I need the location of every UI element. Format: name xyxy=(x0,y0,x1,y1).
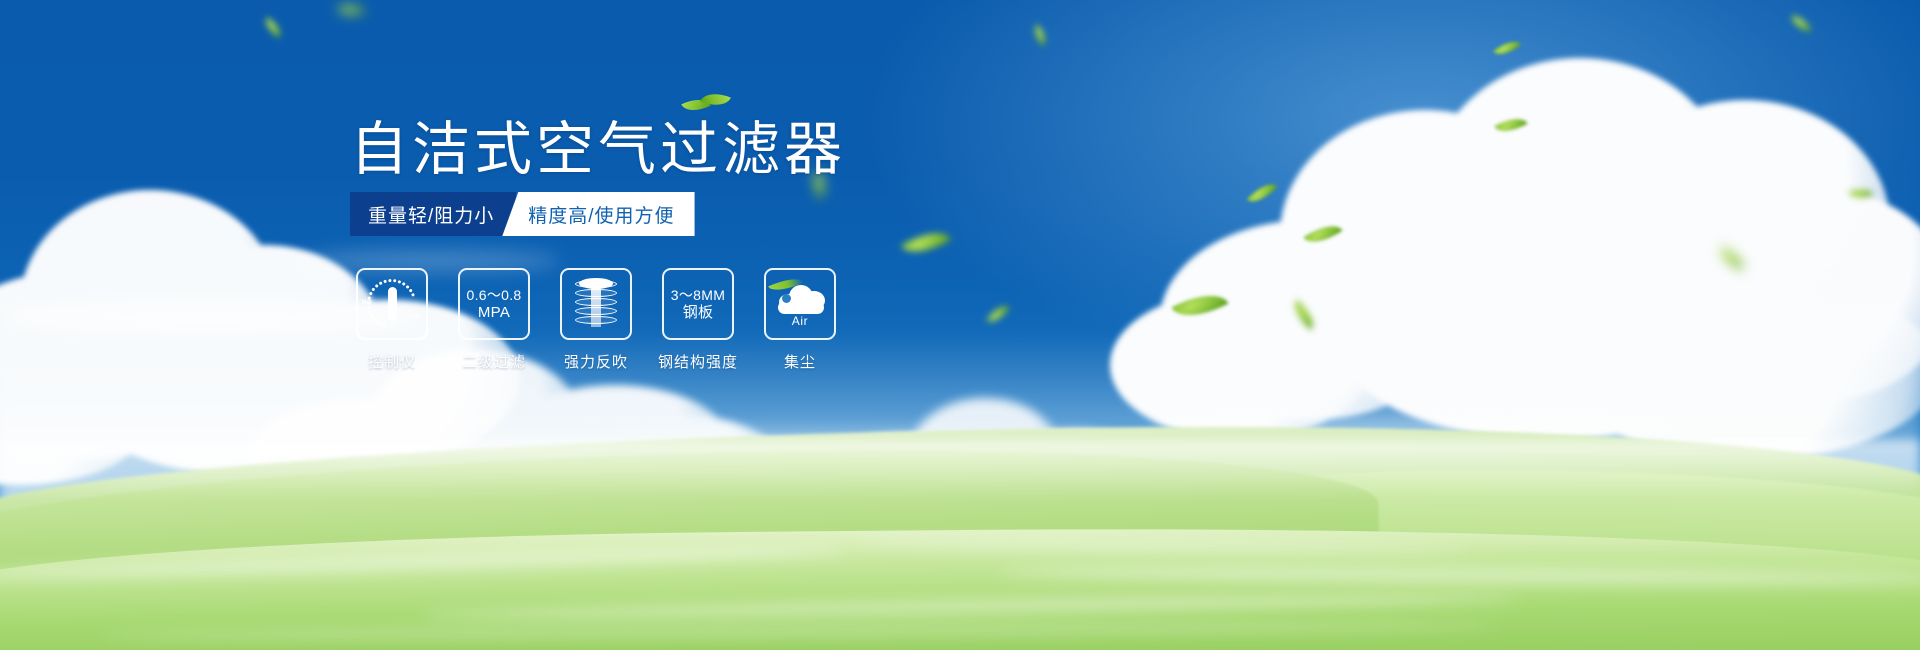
feature-item-steel[interactable]: 3～8MM 钢板 钢结构强度 xyxy=(662,268,734,372)
feature-label: 二级过滤 xyxy=(462,351,526,372)
tag-precision-convenience[interactable]: 精度高/使用方便 xyxy=(502,192,694,236)
feature-item-backflush[interactable]: 强力反吹 xyxy=(560,268,632,372)
feature-list: NO OFF 控制仪 0.6～0.8 MPA 二级过滤 xyxy=(356,268,836,372)
feature-icon-box: 0.6～0.8 MPA xyxy=(458,268,530,340)
air-label: Air xyxy=(773,314,827,328)
feature-text-line2: 钢板 xyxy=(683,304,714,322)
hero-banner: 自洁式空气过滤器 重量轻/阻力小 精度高/使用方便 xyxy=(0,0,1920,650)
feature-label: 集尘 xyxy=(784,351,816,372)
air-cloud-icon: Air xyxy=(773,281,827,327)
tag-group: 重量轻/阻力小 精度高/使用方便 xyxy=(350,192,695,236)
feature-text-line1: 0.6～0.8 xyxy=(466,286,521,304)
feature-text-line1: 3～8MM xyxy=(671,286,725,304)
feature-label: 钢结构强度 xyxy=(658,351,738,372)
feature-item-dust[interactable]: Air 集尘 xyxy=(764,268,836,372)
gauge-icon: NO OFF xyxy=(364,278,420,330)
tag-weight-resistance[interactable]: 重量轻/阻力小 xyxy=(350,192,516,236)
feature-icon-box: Air xyxy=(764,268,836,340)
feature-item-controller[interactable]: NO OFF 控制仪 xyxy=(356,268,428,372)
feature-text-line2: MPA xyxy=(478,304,510,322)
banner-title: 自洁式空气过滤器 xyxy=(350,118,846,182)
banner-content: 自洁式空气过滤器 重量轻/阻力小 精度高/使用方便 xyxy=(0,0,1920,650)
feature-label: 强力反吹 xyxy=(564,351,628,372)
feature-icon-box xyxy=(560,268,632,340)
gauge-off-label: OFF xyxy=(408,314,422,320)
gauge-no-label: NO xyxy=(362,300,372,306)
filter-coil-icon xyxy=(575,278,617,330)
feature-icon-box: NO OFF xyxy=(356,268,428,340)
feature-label: 控制仪 xyxy=(368,351,416,372)
feature-icon-box: 3～8MM 钢板 xyxy=(662,268,734,340)
feature-item-pressure[interactable]: 0.6～0.8 MPA 二级过滤 xyxy=(458,268,530,372)
